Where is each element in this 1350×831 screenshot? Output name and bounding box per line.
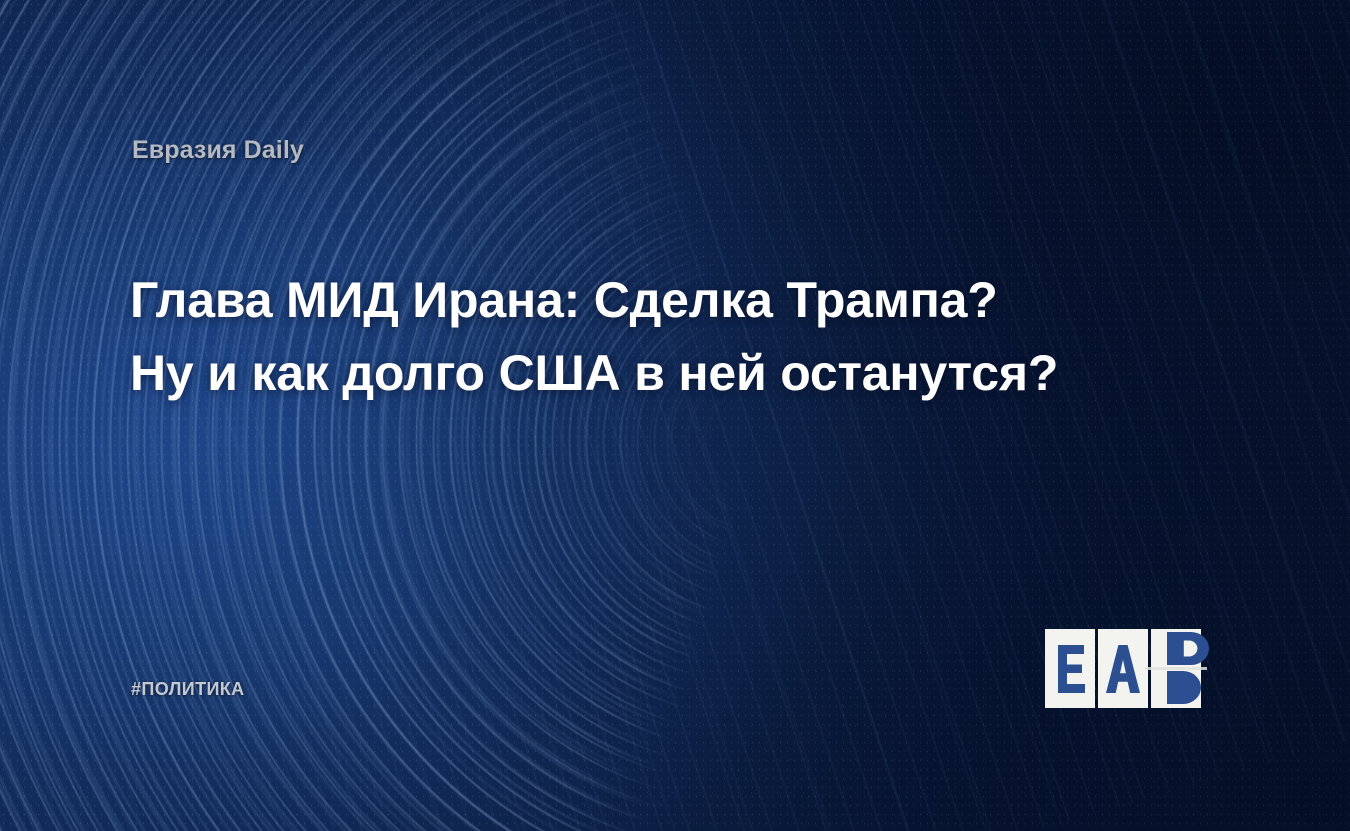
category-hashtag[interactable]: #ПОЛИТИКА — [131, 679, 245, 700]
news-share-card: Евразия Daily Глава МИД Ирана: Сделка Тр… — [0, 0, 1350, 831]
logo-letter-a-icon — [1105, 644, 1141, 694]
logo-tile-a — [1098, 629, 1148, 708]
headline-line-1: Глава МИД Ирана: Сделка Трампа? — [130, 264, 1220, 337]
card-content: Евразия Daily Глава МИД Ирана: Сделка Тр… — [0, 0, 1350, 831]
logo-tile-e — [1045, 629, 1095, 708]
page-title: Глава МИД Ирана: Сделка Трампа? Ну и как… — [130, 264, 1220, 410]
logo-letter-d-split-icon — [1145, 629, 1207, 708]
headline-line-2: Ну и как долго США в ней останутся? — [130, 337, 1220, 410]
eadaily-logo[interactable] — [1045, 629, 1221, 708]
logo-letter-e-icon — [1054, 644, 1086, 694]
brand-wordmark: Евразия Daily — [132, 136, 304, 165]
logo-tile-d — [1151, 629, 1201, 708]
